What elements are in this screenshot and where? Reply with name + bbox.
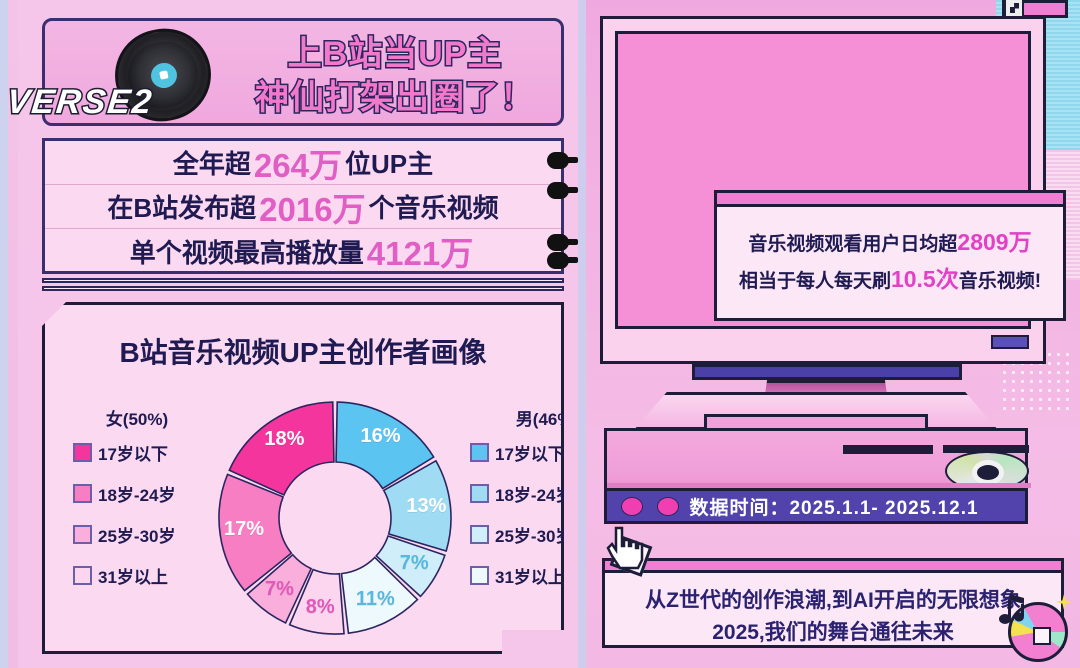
chart-title: B站音乐视频UP主创作者画像 [45,331,561,371]
legend-item-female-2[interactable]: 25岁-30岁 [73,522,223,547]
legend-item-female-1[interactable]: 18岁-24岁 [73,481,223,506]
panel-divider [578,0,586,668]
info2-line-1-highlight: 2809万 [957,229,1031,255]
legend-swatch [470,525,489,544]
stat-suffix: 位UP主 [345,144,433,181]
stat-prefix: 单个视频最高播放量 [130,233,364,270]
legend-swatch [73,484,92,503]
tower-body [604,428,1028,496]
legend-label: 17岁以下 [495,440,565,465]
legend-swatch [470,443,489,462]
info2-line-2-highlight: 10.5次 [891,266,959,292]
chart-card: B站音乐视频UP主创作者画像 女(50%) 17岁以下 18岁-24岁 25岁-… [42,302,564,654]
stat-row: 全年超 264万 位UP主 [45,141,561,185]
legend-label: 18岁-24岁 [495,481,572,506]
legend-female: 女(50%) 17岁以下 18岁-24岁 25岁-30岁 [73,405,223,604]
computer-tower [604,392,1028,496]
monitor-neck [692,364,962,380]
shortcut-arrow-icon [1004,0,1024,18]
data-period-text: 数据时间：2025.1.1- 2025.12.1 [679,493,989,520]
tagline-line-2: 2025,我们的舞台通往未来 [605,617,1061,649]
legend-swatch [470,484,489,503]
binder-pin [547,182,569,199]
tagline-line-1: 从Z世代的创作浪潮,到AI开启的无限想象 [605,585,1061,617]
stat-prefix: 在B站发布超 [107,188,256,225]
binder-pin [547,234,569,251]
info-box-users: 音乐视频观看用户日均超2809万 相当于每人每天刷10.5次音乐视频! [714,190,1066,321]
stat-number: 4121万 [364,227,476,275]
legend-label: 31岁以上 [98,563,168,588]
right-panel: 2025年,B站全年音乐视频 播放量突破997.16亿次 日均播放高达2.95亿… [586,0,1080,668]
header-card: VERSE2 上B站当UP主 神仙打架出圈了！ [42,18,564,126]
indicator-dot [657,497,679,516]
legend-swatch [73,566,92,585]
pointer-hand-cursor-icon [604,524,644,572]
info2-line-1-prefix: 音乐视频观看用户日均超 [748,234,957,255]
tagline-box: 从Z世代的创作浪潮,到AI开启的无限想象 2025,我们的舞台通往未来 [602,558,1064,648]
sparkle-icon [1056,594,1072,610]
tagline-body: 从Z世代的创作浪潮,到AI开启的无限想象 2025,我们的舞台通往未来 [605,573,1061,648]
crt-power-led [991,335,1029,349]
legend-item-female-0[interactable]: 17岁以下 [73,440,223,465]
music-note-svg [998,592,1028,626]
data-period-bar: 数据时间：2025.1.1- 2025.12.1 [604,488,1028,524]
legend-label: 25岁-30岁 [98,522,175,547]
stats-card: 全年超 264万 位UP主 在B站发布超 2016万 个音乐视频 单个视频最高播… [42,138,564,274]
info2-line-1: 音乐视频观看用户日均超2809万 [717,224,1063,261]
stats-underline-2 [42,286,564,291]
stat-row: 在B站发布超 2016万 个音乐视频 [45,185,561,229]
floppy-slot [843,445,933,454]
infographic-stage: VERSE2 上B站当UP主 神仙打架出圈了！ 全年超 264万 位UP主 在B… [0,0,1080,668]
legend-female-head: 女(50%) [73,405,223,430]
stat-number: 264万 [251,139,345,187]
cd-decoration [998,588,1074,664]
legend-swatch [73,443,92,462]
legend-label: 25岁-30岁 [495,522,572,547]
legend-label: 17岁以下 [98,440,168,465]
hand-cursor-svg [604,524,644,572]
sparkle-svg [1056,594,1072,610]
stat-number: 2016万 [256,183,368,231]
donut-chart: 16%13%7%11%8%7%17%18% [205,393,465,643]
info2-line-2-suffix: 音乐视频! [959,271,1041,292]
music-note-icon [998,592,1028,626]
donut-svg [205,393,465,643]
stat-row: 单个视频最高播放量 4121万 [45,229,561,273]
stat-prefix: 全年超 [173,144,251,181]
legend-label: 18岁-24岁 [98,481,175,506]
window-titlebar [717,193,1063,207]
info2-line-2: 相当于每人每天刷10.5次音乐视频! [717,261,1063,298]
legend-swatch [470,566,489,585]
stats-underline-1 [42,278,564,283]
info-body: 音乐视频观看用户日均超2809万 相当于每人每天刷10.5次音乐视频! [717,207,1063,298]
binder-pin [547,252,569,269]
page-title: 上B站当UP主 神仙打架出圈了！ [235,33,555,120]
legend-swatch [73,525,92,544]
verse2-logo-text: VERSE2 [5,83,199,122]
legend-item-female-3[interactable]: 31岁以上 [73,563,223,588]
left-panel: VERSE2 上B站当UP主 神仙打架出圈了！ 全年超 264万 位UP主 在B… [8,0,586,668]
left-panel-inner: VERSE2 上B站当UP主 神仙打架出圈了！ 全年超 264万 位UP主 在B… [18,0,578,668]
stat-suffix: 个音乐视频 [369,188,499,225]
info2-line-2-prefix: 相当于每人每天刷 [739,271,891,292]
page-title-line-1: 上B站当UP主 [235,33,555,77]
page-title-line-2: 神仙打架出圈了！ [235,77,555,121]
legend-label: 31岁以上 [495,563,565,588]
window-titlebar [605,561,1061,573]
indicator-dot [621,497,643,516]
binder-pin [547,152,569,169]
